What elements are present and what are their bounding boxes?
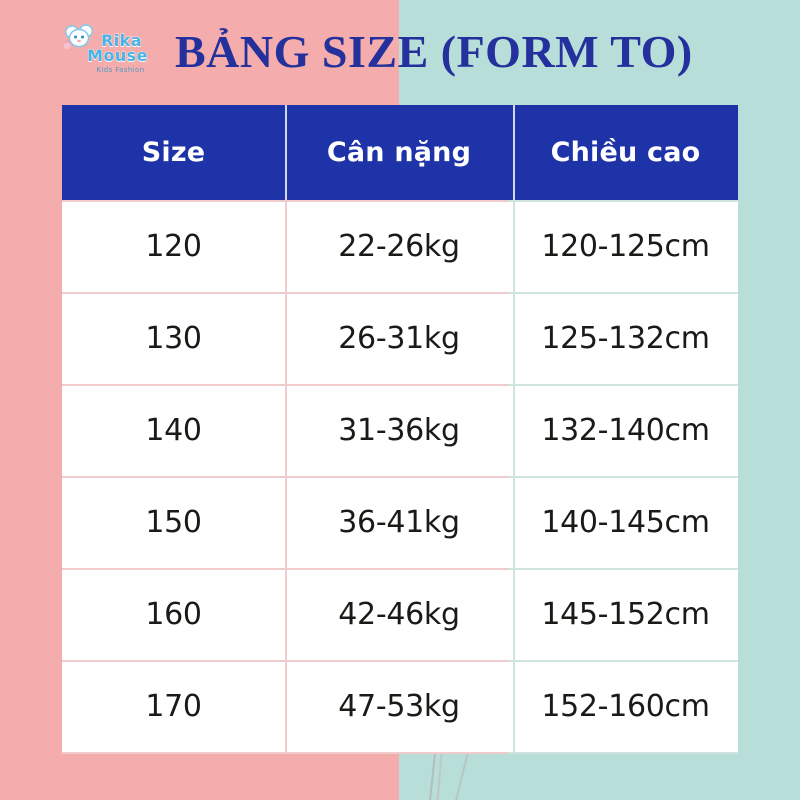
brand-name: Rika Mouse <box>95 33 148 63</box>
mouse-head-icon <box>63 23 97 53</box>
cell-weight: 22-26kg <box>285 200 513 292</box>
size-table: Size Cân nặng Chiều cao 120 22-26kg 120-… <box>62 105 738 753</box>
table-row: 120 22-26kg 120-125cm <box>62 200 738 292</box>
column-header-height: Chiều cao <box>513 105 738 200</box>
table-header-row: Size Cân nặng Chiều cao <box>62 105 738 200</box>
table-row: 170 47-53kg 152-160cm <box>62 660 738 752</box>
table-row: 150 36-41kg 140-145cm <box>62 476 738 568</box>
cell-weight: 42-46kg <box>285 568 513 660</box>
column-header-size: Size <box>62 105 285 200</box>
cell-height: 140-145cm <box>513 476 738 568</box>
size-chart-page: Rika Mouse Kids Fashion BẢNG SIZE (FORM … <box>0 0 800 800</box>
cell-size: 140 <box>62 384 285 476</box>
cell-weight: 31-36kg <box>285 384 513 476</box>
page-title: BẢNG SIZE (FORM TO) <box>175 20 735 84</box>
cell-size: 120 <box>62 200 285 292</box>
cell-height: 145-152cm <box>513 568 738 660</box>
cell-height: 152-160cm <box>513 660 738 752</box>
table-row: 140 31-36kg 132-140cm <box>62 384 738 476</box>
cell-size: 160 <box>62 568 285 660</box>
cell-height: 132-140cm <box>513 384 738 476</box>
cell-weight: 47-53kg <box>285 660 513 752</box>
cell-weight: 26-31kg <box>285 292 513 384</box>
column-header-weight: Cân nặng <box>285 105 513 200</box>
cell-height: 120-125cm <box>513 200 738 292</box>
cell-size: 170 <box>62 660 285 752</box>
brand-tagline: Kids Fashion <box>96 66 144 74</box>
cell-height: 125-132cm <box>513 292 738 384</box>
cell-size: 130 <box>62 292 285 384</box>
cell-weight: 36-41kg <box>285 476 513 568</box>
page-header: Rika Mouse Kids Fashion BẢNG SIZE (FORM … <box>0 0 800 105</box>
table-row: 160 42-46kg 145-152cm <box>62 568 738 660</box>
table-row: 130 26-31kg 125-132cm <box>62 292 738 384</box>
brand-logo: Rika Mouse Kids Fashion <box>63 22 168 84</box>
cell-size: 150 <box>62 476 285 568</box>
